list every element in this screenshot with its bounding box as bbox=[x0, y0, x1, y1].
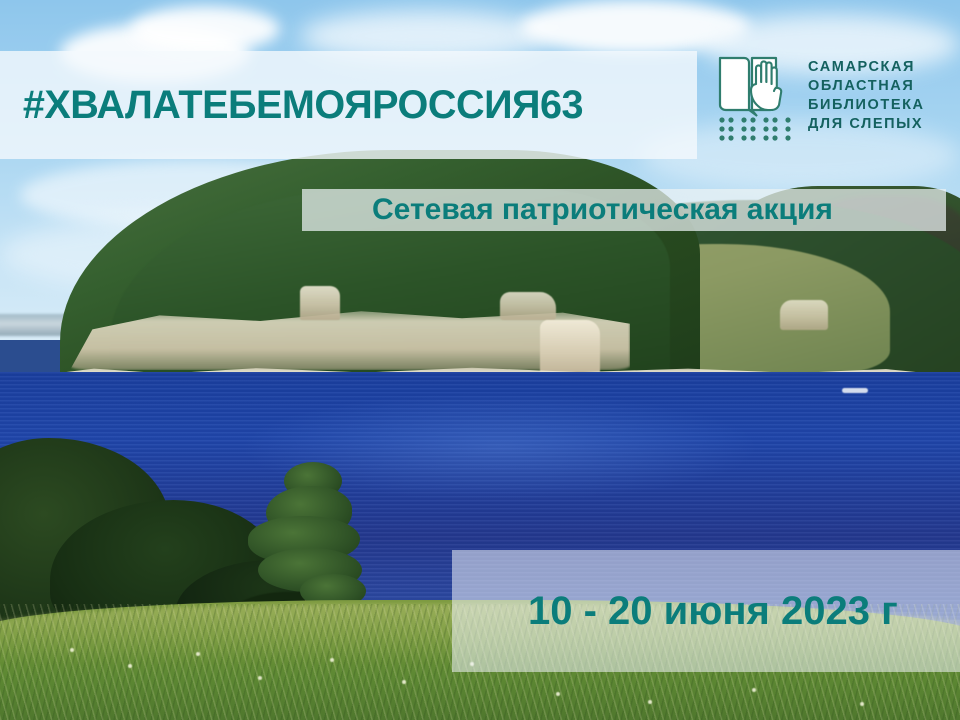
wildflower bbox=[330, 658, 334, 662]
subtitle-banner: Сетевая патриотическая акция bbox=[302, 189, 946, 231]
poster: #ХВАЛАТЕБЕМОЯРОССИЯ63 Сетевая патриотиче… bbox=[0, 0, 960, 720]
chalk-outcrop bbox=[300, 286, 340, 320]
wildflower bbox=[648, 700, 652, 704]
event-date: 10 - 20 июня 2023 г bbox=[528, 589, 898, 634]
library-name-line-1: САМАРСКАЯ bbox=[808, 58, 925, 77]
hashtag-title: #ХВАЛАТЕБЕМОЯРОССИЯ63 bbox=[23, 83, 583, 128]
subtitle-text: Сетевая патриотическая акция bbox=[372, 193, 833, 227]
boat bbox=[842, 388, 868, 393]
open-book-with-hand-icon bbox=[714, 48, 798, 144]
wildflower bbox=[556, 692, 560, 696]
wildflower bbox=[860, 702, 864, 706]
wildflower bbox=[128, 664, 132, 668]
chalk-outcrop bbox=[780, 300, 828, 330]
wildflower bbox=[196, 652, 200, 656]
chalk-outcrop bbox=[500, 292, 556, 320]
library-name-line-2: ОБЛАСТНАЯ bbox=[808, 77, 925, 96]
date-banner: 10 - 20 июня 2023 г bbox=[452, 550, 960, 672]
library-name-line-4: ДЛЯ СЛЕПЫХ bbox=[808, 115, 925, 134]
library-name: САМАРСКАЯ ОБЛАСТНАЯ БИБЛИОТЕКА ДЛЯ СЛЕПЫ… bbox=[808, 58, 925, 133]
wildflower bbox=[70, 648, 74, 652]
library-name-line-3: БИБЛИОТЕКА bbox=[808, 96, 925, 115]
wildflower bbox=[752, 688, 756, 692]
wildflower bbox=[402, 680, 406, 684]
cloud-icon bbox=[130, 6, 280, 52]
library-logo: САМАРСКАЯ ОБЛАСТНАЯ БИБЛИОТЕКА ДЛЯ СЛЕПЫ… bbox=[714, 46, 954, 146]
hashtag-banner: #ХВАЛАТЕБЕМОЯРОССИЯ63 bbox=[0, 51, 697, 159]
wildflower bbox=[258, 676, 262, 680]
